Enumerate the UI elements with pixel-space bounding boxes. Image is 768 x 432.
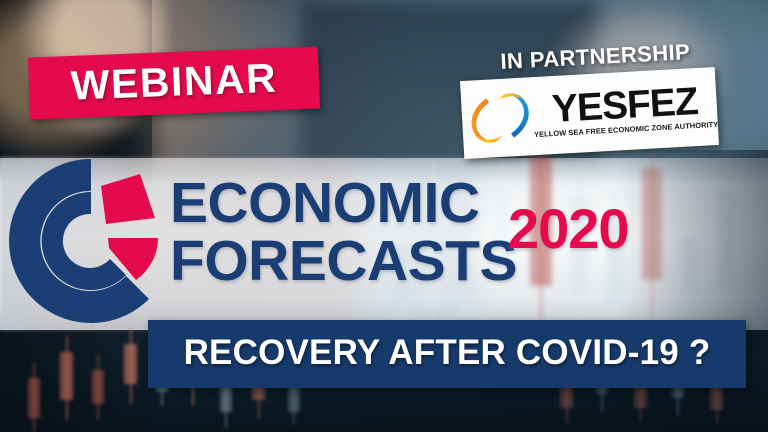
- title-year: 2020: [508, 196, 629, 261]
- partner-logo-card: YESFEZ YELLOW SEA FREE ECONOMIC ZONE AUT…: [460, 67, 719, 159]
- webinar-poster: WEBINAR IN PARTNERSHIP WITH: [0, 0, 768, 432]
- title-line-economic: ECONOMIC: [170, 176, 480, 232]
- subtitle-banner-label: RECOVERY AFTER COVID-19 ?: [148, 333, 746, 373]
- partnership-block: IN PARTNERSHIP WITH: [462, 44, 724, 162]
- yesfez-swoosh-icon: [465, 85, 534, 151]
- subtitle-banner: RECOVERY AFTER COVID-19 ?: [148, 320, 746, 388]
- webinar-badge-label: WEBINAR: [28, 56, 319, 108]
- yesfez-wordmark: YESFEZ YELLOW SEA FREE ECONOMIC ZONE AUT…: [532, 83, 724, 139]
- circular-c-pie-chart-logo: [2, 152, 180, 330]
- title-line-forecasts: FORECASTS: [170, 234, 517, 290]
- webinar-badge: WEBINAR: [28, 46, 320, 119]
